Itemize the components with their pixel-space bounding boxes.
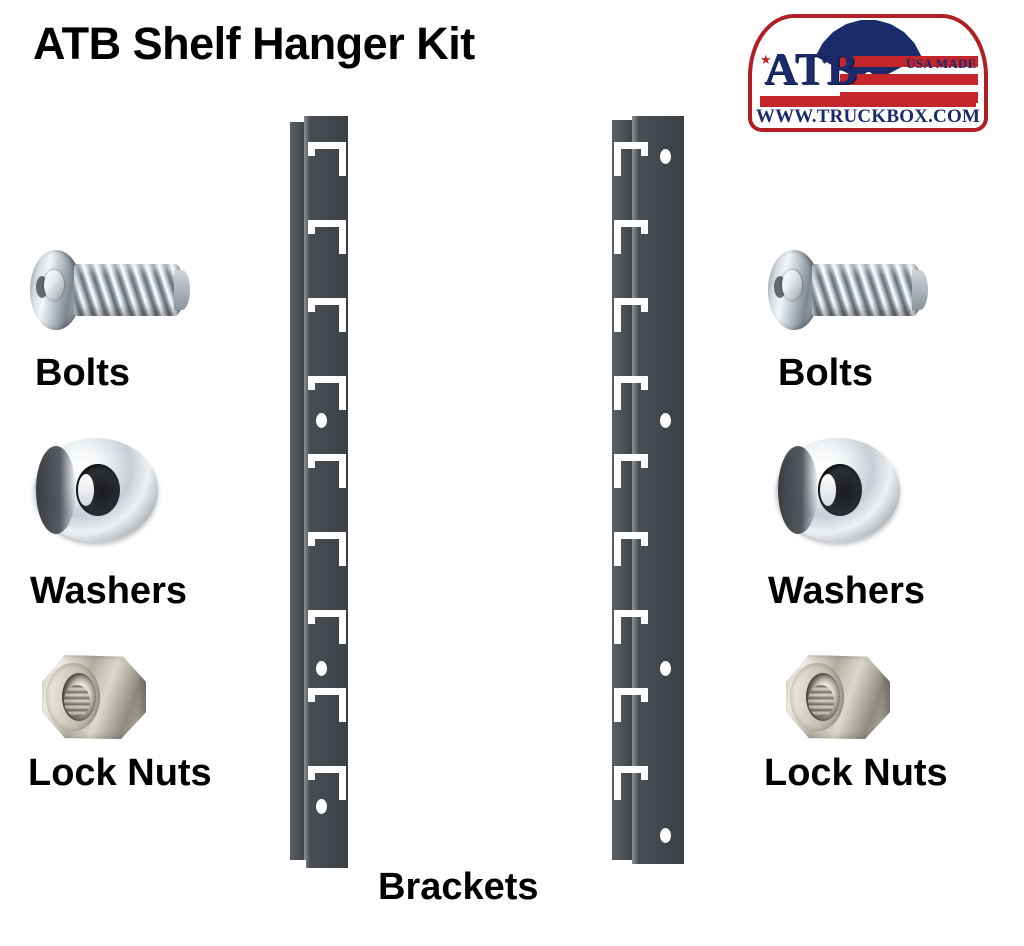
bracket-hook-slot-tail: [641, 766, 648, 780]
bracket-hook-slot-drop: [614, 766, 621, 800]
bolt-left-image: [30, 248, 190, 333]
logo-usa-made-text: USA MADE: [906, 56, 977, 72]
bracket-mounting-hole: [316, 799, 327, 814]
bracket-hook-slot-tail: [308, 376, 315, 390]
bracket-hook-slot-drop: [614, 610, 621, 644]
bracket-hook-slot-drop: [339, 532, 346, 566]
bracket-hook-slot-tail: [641, 220, 648, 234]
label-bolts-right: Bolts: [778, 352, 873, 395]
bracket-hook-slot-drop: [614, 298, 621, 332]
bracket-hook-slot-tail: [308, 688, 315, 702]
bracket-bottom-notch: [290, 860, 306, 868]
label-locknuts-left: Lock Nuts: [28, 752, 212, 795]
logo-registered-mark: ®: [846, 50, 854, 62]
bracket-right-image: [612, 116, 690, 866]
locknut-right-image: [786, 655, 890, 739]
bolt-threaded-shank: [74, 264, 184, 316]
bracket-mounting-hole: [316, 661, 327, 676]
bracket-hook-slot-tail: [641, 532, 648, 546]
bracket-hook-slot-drop: [614, 220, 621, 254]
bracket-hook-slot-drop: [339, 454, 346, 488]
bolt-drive-recess: [44, 270, 64, 300]
bracket-mounting-hole: [660, 661, 671, 676]
bolt-tip: [912, 270, 928, 310]
bracket-hook-slot-tail: [641, 142, 648, 156]
bracket-hook-slot-drop: [339, 376, 346, 410]
washer-left-image: [34, 438, 158, 542]
product-diagram: ATB Shelf Hanger Kit ★ ATB ® USA MADE WW…: [0, 0, 1024, 946]
label-brackets: Brackets: [378, 866, 539, 909]
bracket-hook-slot-tail: [641, 610, 648, 624]
bracket-mounting-hole: [316, 413, 327, 428]
bracket-hook-slot-drop: [614, 142, 621, 176]
label-bolts-left: Bolts: [35, 352, 130, 395]
bracket-hook-slot-drop: [339, 142, 346, 176]
bracket-mounting-hole: [660, 413, 671, 428]
page-title: ATB Shelf Hanger Kit: [33, 18, 475, 70]
washer-rim-shadow: [778, 446, 818, 534]
bolt-tip: [174, 270, 190, 310]
bracket-hook-slot-drop: [339, 298, 346, 332]
bracket-hook-slot-tail: [308, 220, 315, 234]
label-locknuts-right: Lock Nuts: [764, 752, 948, 795]
locknut-threads: [64, 685, 90, 717]
label-washers-left: Washers: [30, 570, 187, 613]
locknut-threads: [808, 685, 834, 717]
bracket-hook-slot-tail: [641, 454, 648, 468]
washer-right-image: [776, 438, 900, 542]
bracket-edge-highlight: [632, 116, 639, 864]
logo-brand-text: ATB: [764, 46, 858, 92]
bracket-hook-slot-drop: [614, 376, 621, 410]
bracket-hook-slot-tail: [641, 688, 648, 702]
bracket-hook-slot-tail: [308, 532, 315, 546]
bolt-threaded-shank: [812, 264, 922, 316]
bracket-hook-slot-drop: [339, 688, 346, 722]
bolt-drive-recess: [782, 270, 802, 300]
bracket-hook-slot-drop: [614, 688, 621, 722]
washer-hole-highlight: [820, 474, 836, 506]
bracket-hook-slot-tail: [641, 298, 648, 312]
bracket-hook-slot-drop: [339, 766, 346, 800]
bracket-hook-slot-tail: [308, 142, 315, 156]
washer-hole-highlight: [78, 474, 94, 506]
atb-logo: ★ ATB ® USA MADE WWW.TRUCKBOX.COM: [748, 14, 988, 132]
locknut-left-image: [42, 655, 146, 739]
bolt-right-image: [768, 248, 928, 333]
bracket-right-face: [632, 116, 684, 864]
bracket-mounting-hole: [660, 828, 671, 843]
bracket-hook-slot-tail: [308, 298, 315, 312]
logo-website-text: WWW.TRUCKBOX.COM: [748, 106, 988, 128]
label-washers-right: Washers: [768, 570, 925, 613]
bracket-hook-slot-drop: [614, 532, 621, 566]
bracket-hook-slot-drop: [339, 610, 346, 644]
bracket-hook-slot-drop: [339, 220, 346, 254]
bracket-hook-slot-tail: [641, 376, 648, 390]
bracket-mounting-hole: [660, 149, 671, 164]
bracket-hook-slot-drop: [614, 454, 621, 488]
bracket-hook-slot-tail: [308, 766, 315, 780]
bracket-hook-slot-tail: [308, 454, 315, 468]
bracket-hook-slot-tail: [308, 610, 315, 624]
bracket-left-image: [290, 116, 360, 866]
washer-rim-shadow: [36, 446, 76, 534]
